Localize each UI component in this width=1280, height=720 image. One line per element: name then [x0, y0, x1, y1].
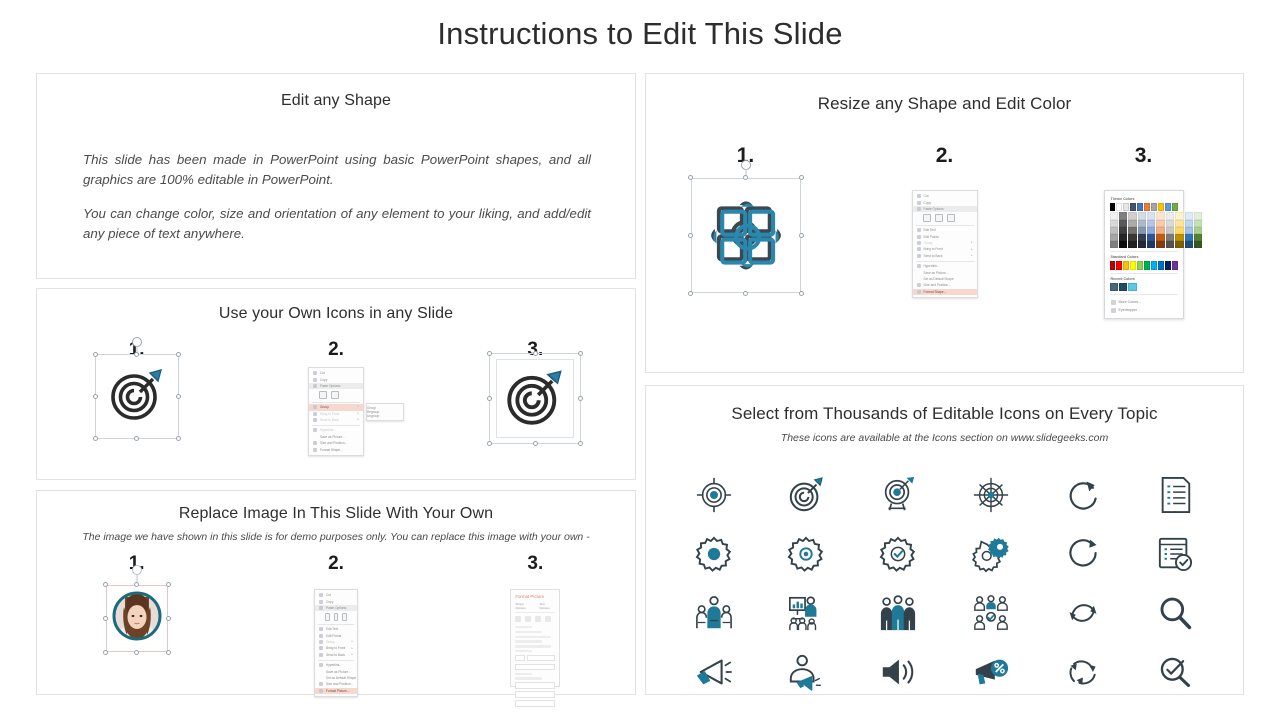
step-number: 2. — [328, 339, 344, 361]
page-title: Instructions to Edit This Slide — [0, 16, 1280, 52]
icon-cell[interactable] — [760, 531, 852, 576]
resize-handle-nw[interactable] — [103, 582, 108, 587]
section-label — [515, 673, 532, 675]
color-swatch[interactable] — [1151, 261, 1157, 269]
icon-cell[interactable] — [760, 649, 852, 694]
color-picker-palette[interactable]: Theme Colors — [1104, 190, 1184, 319]
theme-colors-row[interactable] — [1110, 203, 1178, 211]
icon-cell[interactable] — [760, 472, 852, 517]
replace-image-step-3: 3. Format Picture Shape Options Text Opt… — [436, 553, 635, 697]
panel-subtitle-replace-image: The image we have shown in this slide is… — [37, 531, 635, 543]
paste-keep-format-icon[interactable] — [923, 214, 931, 222]
color-variant-column[interactable] — [1185, 212, 1193, 248]
resize-handle-nw[interactable] — [93, 352, 98, 357]
paste-picture-icon[interactable] — [947, 214, 955, 222]
menu-item-send-to-back[interactable]: Send to Back▸ — [913, 253, 977, 259]
paste-icon — [917, 207, 921, 211]
replace-image-step-1: 1. — [37, 553, 236, 697]
edit-shape-paragraph-1: This slide has been made in PowerPoint u… — [83, 150, 591, 190]
resize-handle-s[interactable] — [533, 441, 538, 446]
icon-cell[interactable] — [668, 649, 760, 694]
menu-divider — [916, 261, 974, 262]
resize-handle-s[interactable] — [743, 291, 748, 296]
resize-handle-ne[interactable] — [176, 352, 181, 357]
color-swatch[interactable] — [515, 655, 524, 662]
color-variant-column[interactable] — [1194, 212, 1202, 248]
height-field[interactable] — [515, 691, 555, 698]
menu-item-format-picture[interactable]: Format Picture... — [315, 688, 357, 694]
send-back-icon — [917, 254, 921, 258]
crosshair-target-icon — [695, 476, 733, 514]
chevron-right-icon: ▸ — [971, 241, 973, 245]
copy-icon — [319, 600, 323, 604]
chevron-right-icon: ▸ — [971, 254, 973, 258]
color-swatch[interactable] — [1165, 203, 1171, 211]
icon-cell[interactable] — [1129, 649, 1221, 694]
icon-cell[interactable] — [852, 472, 944, 517]
paste-merge-icon[interactable] — [935, 214, 943, 222]
panel-title-edit-shape: Edit any Shape — [37, 92, 635, 110]
transparency-field[interactable] — [515, 664, 555, 671]
resize-handle-sw[interactable] — [93, 436, 98, 441]
edit-points-icon — [319, 634, 323, 638]
bring-front-icon — [313, 412, 317, 416]
picture-icon[interactable] — [545, 616, 551, 622]
color-variant-column[interactable] — [1138, 212, 1146, 248]
gear-dot-icon — [787, 535, 825, 573]
color-swatch[interactable] — [1128, 283, 1136, 291]
color-swatch[interactable] — [1151, 203, 1157, 211]
rotate-handle[interactable] — [132, 337, 142, 347]
recent-colors-label: Recent Colors — [1111, 277, 1178, 281]
team-leader-icon — [695, 594, 733, 632]
resize-handle-w[interactable] — [93, 394, 98, 399]
cut-icon — [313, 371, 317, 375]
step-artwork: Cut Copy Paste Options: Edit Text Edit P… — [314, 589, 358, 697]
size-position-icon — [319, 682, 323, 686]
menu-divider — [312, 425, 360, 426]
icon-cell[interactable] — [1129, 472, 1221, 517]
color-value[interactable] — [527, 655, 556, 662]
panel-resize-shape: Resize any Shape and Edit Color 1. — [645, 73, 1244, 373]
panel-title-resize-shape: Resize any Shape and Edit Color — [646, 94, 1243, 114]
paste-picture-icon[interactable] — [334, 613, 339, 621]
step-number: 3. — [527, 553, 543, 575]
resize-handle-n[interactable] — [743, 175, 748, 180]
color-swatch[interactable] — [1119, 283, 1127, 291]
resize-shape-step-1: 1. — [646, 144, 845, 319]
rotate-handle[interactable] — [132, 565, 142, 575]
context-menu-picture[interactable]: Cut Copy Paste Options: Edit Text Edit P… — [314, 589, 358, 697]
size-properties-icon[interactable] — [535, 616, 541, 622]
offset-field[interactable] — [515, 700, 555, 707]
chevron-right-icon: ▸ — [351, 653, 353, 657]
submenu-item-ungroup[interactable]: Ungroup — [367, 414, 403, 418]
theme-colors-variants[interactable] — [1110, 212, 1178, 248]
gear-check-icon — [879, 535, 917, 573]
offset-input[interactable] — [515, 700, 555, 707]
color-variant-column[interactable] — [1175, 212, 1183, 248]
color-swatch[interactable] — [1144, 261, 1150, 269]
cut-icon — [917, 194, 921, 198]
copy-icon — [917, 201, 921, 205]
step-artwork: Cut Copy Paste Options: Group▸ Bring to … — [308, 367, 364, 456]
icon-cell[interactable] — [668, 531, 760, 576]
selection-frame — [691, 178, 801, 293]
color-swatch[interactable] — [1144, 203, 1150, 211]
step-number: 2. — [936, 144, 954, 168]
resize-handle-ne[interactable] — [166, 582, 171, 587]
chevron-right-icon: ▸ — [357, 405, 359, 409]
refresh-circle-icon — [1065, 536, 1101, 572]
paste-picture-icon[interactable] — [331, 391, 339, 399]
loudspeaker-icon — [879, 653, 917, 691]
theme-colors-label: Theme Colors — [1111, 197, 1178, 201]
paste-keep-format-icon[interactable] — [319, 391, 327, 399]
refresh-clockwise-icon — [1065, 477, 1101, 513]
section-label — [515, 677, 541, 679]
section-label — [515, 626, 532, 628]
icon-cell[interactable] — [944, 472, 1036, 517]
standard-colors-row[interactable] — [1110, 261, 1178, 269]
section-label — [515, 631, 541, 633]
panel-edit-any-shape: Edit any Shape This slide has been made … — [36, 73, 636, 279]
section-label — [515, 645, 550, 647]
color-swatch[interactable] — [1123, 261, 1129, 269]
resize-handle-s[interactable] — [134, 436, 139, 441]
slide-root: Instructions to Edit This Slide Edit any… — [0, 0, 1280, 720]
target-dart-icon — [787, 476, 825, 514]
gear-solid-icon — [695, 535, 733, 573]
icon-cell[interactable] — [944, 649, 1036, 694]
eyedropper-item[interactable]: Eyedropper — [1110, 306, 1178, 314]
paste-icon — [313, 384, 317, 388]
color-swatch[interactable] — [1165, 261, 1171, 269]
resize-handle-s[interactable] — [134, 650, 139, 655]
color-swatch[interactable] — [1110, 261, 1116, 269]
resize-handle-e[interactable] — [799, 233, 804, 238]
send-back-icon — [313, 418, 317, 422]
chevron-right-icon: ▸ — [357, 418, 359, 422]
size-position-icon — [917, 283, 921, 287]
resize-handle-se[interactable] — [176, 436, 181, 441]
section-label — [515, 650, 532, 652]
color-variant-column[interactable] — [1128, 212, 1136, 248]
step-artwork — [109, 367, 165, 426]
resize-handle-e[interactable] — [166, 616, 171, 621]
icon-cell[interactable] — [1037, 649, 1129, 694]
resize-handle-nw[interactable] — [688, 175, 693, 180]
edit-shape-paragraph-2: You can change color, size and orientati… — [83, 204, 591, 244]
icon-cell[interactable] — [944, 531, 1036, 576]
color-swatch[interactable] — [1172, 203, 1178, 211]
color-swatch[interactable] — [1130, 261, 1136, 269]
sync-two-arrows-icon — [1065, 595, 1101, 631]
paste-option-buttons[interactable] — [913, 212, 977, 223]
panel-icon-library: Select from Thousands of Editable Icons … — [645, 385, 1244, 695]
picker-divider — [1110, 273, 1178, 274]
resize-handle-ne[interactable] — [578, 351, 583, 356]
send-back-icon — [319, 653, 323, 657]
group-icon — [313, 405, 317, 409]
panel-title-own-icons: Use your Own Icons in any Slide — [37, 305, 635, 323]
icon-cell[interactable] — [852, 590, 944, 635]
tab-text-options[interactable]: Text Options — [539, 602, 555, 610]
selection-frame-inner — [496, 359, 574, 438]
copy-icon — [313, 378, 317, 382]
resize-handle-sw[interactable] — [103, 650, 108, 655]
icon-cell[interactable] — [852, 531, 944, 576]
picker-divider — [1110, 251, 1178, 252]
context-menu-shape[interactable]: Cut Copy Paste Options: Edit Text Edit P… — [912, 190, 978, 298]
color-swatch[interactable] — [1110, 203, 1116, 211]
resize-handle-sw[interactable] — [688, 291, 693, 296]
icon-cell[interactable] — [668, 590, 760, 635]
section-label — [515, 636, 550, 638]
edit-text-icon — [917, 228, 921, 232]
megaphone-icon — [695, 653, 733, 691]
hyperlink-icon — [917, 264, 921, 268]
standard-colors-label: Standard Colors — [1111, 255, 1178, 259]
color-swatch[interactable] — [1116, 203, 1122, 211]
own-icons-step-2: 2. Cut Copy Paste Options: Group▸ Bring … — [236, 339, 435, 456]
selection-wrapper — [109, 367, 165, 426]
cut-icon — [319, 593, 323, 597]
rifle-scope-target-icon — [972, 476, 1010, 514]
color-swatch[interactable] — [1158, 203, 1164, 211]
resize-handle-w[interactable] — [688, 233, 693, 238]
icon-cell[interactable] — [1037, 590, 1129, 635]
resize-handle-se[interactable] — [799, 291, 804, 296]
magnifier-check-icon — [1157, 654, 1193, 690]
menu-divider — [318, 624, 354, 625]
bring-front-icon — [319, 646, 323, 650]
icon-cell[interactable] — [852, 649, 944, 694]
menu-divider — [312, 402, 360, 403]
icon-cell[interactable] — [1037, 531, 1129, 576]
format-pane-icon-row[interactable] — [515, 616, 555, 622]
panel-title-replace-image: Replace Image In This Slide With Your Ow… — [37, 505, 635, 523]
paste-keep-format-icon[interactable] — [325, 613, 330, 621]
edit-text-icon — [319, 627, 323, 631]
context-submenu-group[interactable]: Group Regroup Ungroup — [366, 403, 404, 421]
context-menu-group[interactable]: Cut Copy Paste Options: Group▸ Bring to … — [308, 367, 364, 456]
paste-text-icon[interactable] — [342, 613, 347, 621]
icon-cell[interactable] — [1129, 531, 1221, 576]
megaphone-percent-icon — [972, 653, 1010, 691]
panel-title-icon-library: Select from Thousands of Editable Icons … — [646, 404, 1243, 424]
paste-option-buttons[interactable] — [315, 611, 357, 622]
format-pane-tabs[interactable]: Shape Options Text Options — [515, 602, 555, 613]
resize-shape-step-3: 3. Theme Colors — [1044, 144, 1243, 319]
magnifier-search-icon — [1157, 595, 1193, 631]
resize-handle-w[interactable] — [103, 616, 108, 621]
group-people-icon — [879, 594, 917, 632]
resize-handle-n[interactable] — [533, 351, 538, 356]
resize-handle-sw[interactable] — [487, 441, 492, 446]
icon-cell[interactable] — [760, 590, 852, 635]
width-input[interactable] — [515, 682, 555, 689]
hyperlink-icon — [319, 663, 323, 667]
step-artwork — [505, 367, 565, 430]
size-position-icon — [313, 441, 317, 445]
step-artwork: Theme Colors — [1104, 190, 1184, 319]
menu-item-format-shape[interactable]: Format Shape... — [309, 446, 363, 452]
transparency-slider[interactable] — [515, 664, 555, 671]
step-number: 2. — [328, 553, 344, 575]
resize-handle-ne[interactable] — [799, 175, 804, 180]
sync-three-arrows-icon — [1065, 654, 1101, 690]
menu-item-send-to-back[interactable]: Send to Back▸ — [309, 417, 363, 423]
format-shape-icon — [313, 448, 317, 452]
resize-handle-e[interactable] — [578, 396, 583, 401]
color-swatch[interactable] — [1137, 203, 1143, 211]
palette-icon — [1111, 300, 1116, 305]
chevron-right-icon: ▸ — [351, 640, 353, 644]
selection-wrapper — [705, 192, 787, 279]
color-variant-column[interactable] — [1119, 212, 1127, 248]
color-swatch[interactable] — [1110, 283, 1118, 291]
selection-wrapper — [505, 367, 565, 430]
menu-item-send-to-back[interactable]: Send to Back▸ — [315, 652, 357, 658]
more-colors-item[interactable]: More Colors... — [1110, 298, 1178, 306]
checklist-approved-icon — [1157, 536, 1193, 572]
color-variant-column[interactable] — [1110, 212, 1118, 248]
own-icons-step-3: 3. — [436, 339, 635, 456]
color-field[interactable] — [515, 655, 555, 662]
icon-library-grid — [668, 472, 1221, 694]
menu-divider — [916, 225, 974, 226]
format-picture-icon — [319, 689, 323, 693]
format-picture-pane[interactable]: Format Picture Shape Options Text Option… — [510, 589, 560, 687]
selection-frame — [95, 354, 179, 439]
chevron-right-icon: ▸ — [357, 412, 359, 416]
color-swatch[interactable] — [1123, 203, 1129, 211]
target-stand-dart-icon — [879, 476, 917, 514]
color-variant-column[interactable] — [1147, 212, 1155, 248]
step-artwork: Cut Copy Paste Options: Edit Text Edit P… — [912, 190, 978, 298]
hyperlink-icon — [313, 428, 317, 432]
group-icon — [319, 640, 323, 644]
team-meeting-icon — [972, 594, 1010, 632]
resize-shape-step-2: 2. Cut Copy Paste Options: Edit Text Edi… — [845, 144, 1044, 319]
icon-cell[interactable] — [668, 472, 760, 517]
step-artwork — [705, 192, 787, 279]
width-field[interactable] — [515, 682, 555, 689]
color-swatch[interactable] — [1172, 261, 1178, 269]
person-announcement-icon — [787, 653, 825, 691]
format-pane-title: Format Picture — [515, 594, 555, 599]
color-swatch[interactable] — [1116, 261, 1122, 269]
resize-handle-se[interactable] — [578, 441, 583, 446]
paste-option-buttons[interactable] — [309, 389, 363, 400]
picker-divider — [1110, 294, 1178, 295]
double-gear-icon — [972, 535, 1010, 573]
tab-shape-options[interactable]: Shape Options — [515, 602, 534, 610]
color-swatch[interactable] — [1158, 261, 1164, 269]
recent-colors-row[interactable] — [1110, 283, 1178, 291]
step-number: 3. — [1135, 144, 1153, 168]
color-variant-column[interactable] — [1156, 212, 1164, 248]
menu-divider — [318, 660, 354, 661]
panel-own-icons: Use your Own Icons in any Slide 1. — [36, 288, 636, 480]
resize-handle-e[interactable] — [176, 394, 181, 399]
edit-points-icon — [917, 235, 921, 239]
resize-handle-se[interactable] — [166, 650, 171, 655]
icon-cell[interactable] — [1037, 472, 1129, 517]
format-shape-icon — [917, 290, 921, 294]
color-swatch[interactable] — [1137, 261, 1143, 269]
icon-cell[interactable] — [944, 590, 1036, 635]
icon-cell[interactable] — [1129, 590, 1221, 635]
own-icons-step-1: 1. — [37, 339, 236, 456]
panel-replace-image: Replace Image In This Slide With Your Ow… — [36, 490, 636, 695]
step-artwork: Format Picture Shape Options Text Option… — [510, 589, 560, 687]
chevron-right-icon: ▸ — [351, 647, 353, 651]
selection-wrapper — [112, 591, 162, 646]
fill-line-icon[interactable] — [515, 616, 521, 622]
bring-front-icon — [917, 247, 921, 251]
rotate-handle[interactable] — [741, 160, 751, 170]
panel-subtitle-icon-library: These icons are available at the Icons s… — [646, 432, 1243, 444]
presentation-team-icon — [787, 594, 825, 632]
color-variant-column[interactable] — [1166, 212, 1174, 248]
height-input[interactable] — [515, 691, 555, 698]
menu-item-format-shape[interactable]: Format Shape... — [913, 289, 977, 295]
chevron-right-icon: ▸ — [971, 248, 973, 252]
group-icon — [917, 241, 921, 245]
effects-icon[interactable] — [525, 616, 531, 622]
replace-image-step-2: 2. Cut Copy Paste Options: Edit Text Edi… — [236, 553, 435, 697]
eyedropper-icon — [1111, 308, 1116, 313]
paste-icon — [319, 606, 323, 610]
selection-frame — [106, 585, 168, 652]
step-artwork — [112, 591, 162, 646]
checklist-document-icon — [1158, 476, 1192, 514]
section-label — [515, 640, 541, 642]
color-swatch[interactable] — [1130, 203, 1136, 211]
